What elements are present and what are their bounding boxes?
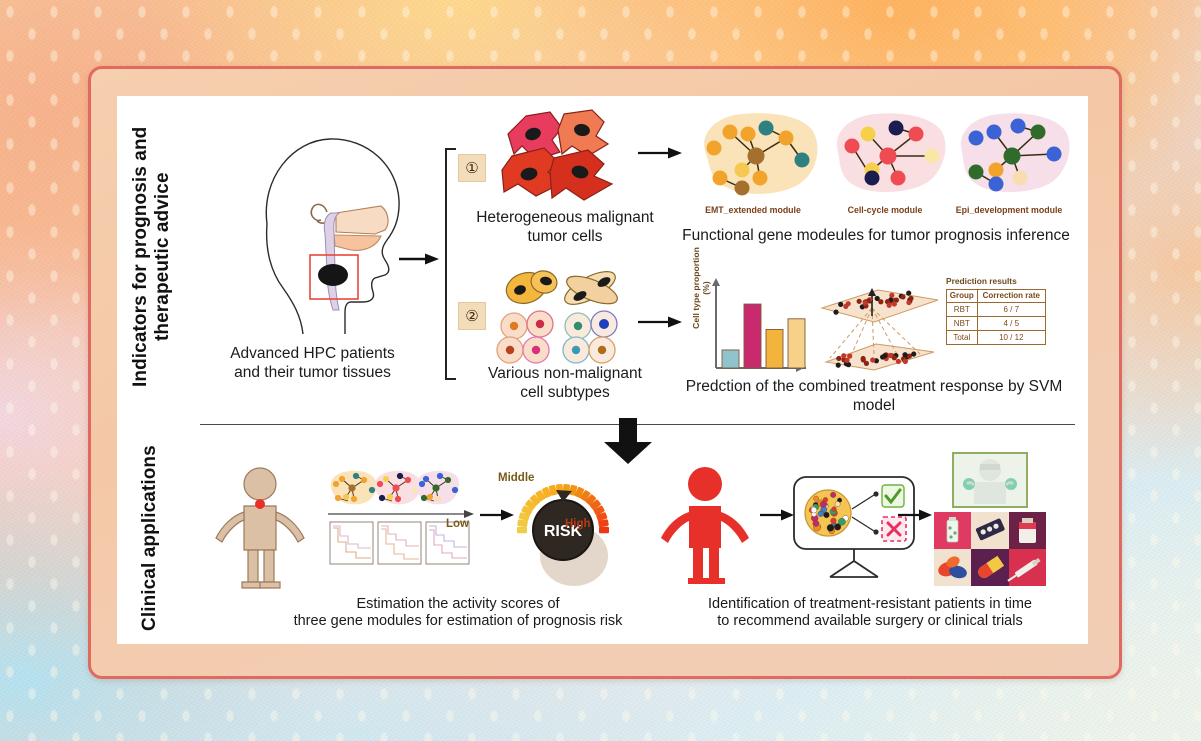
gene-modules-small-diagram [328, 470, 460, 506]
cell-dot [818, 511, 824, 517]
screening-monitor-diagram [790, 473, 920, 585]
svm-point [900, 294, 905, 299]
prediction-table-cell: Total [947, 331, 978, 345]
svm-point [887, 303, 892, 308]
svm-point [841, 353, 846, 358]
svm-point [906, 291, 911, 296]
cell-dot [838, 518, 845, 525]
svm-point [889, 293, 894, 298]
prediction-table-cell: NBT [947, 317, 978, 331]
branch1-caption: Heterogeneous malignant tumor cells [465, 209, 665, 246]
cell-dot [811, 507, 817, 513]
svm-point [844, 358, 849, 363]
prediction-table-cell: 10 / 12 [977, 331, 1045, 345]
arrow-to-modules-icon [638, 143, 684, 163]
prediction-table-cell: 6 / 7 [977, 303, 1045, 317]
bar-3 [766, 329, 783, 368]
prediction-table-title: Prediction results [946, 276, 1046, 286]
arrow-to-svm-icon [638, 312, 684, 332]
svm-point [888, 353, 893, 358]
svm-caption: Predction of the combined treatment resp… [668, 378, 1080, 415]
svm-point [857, 299, 862, 304]
svm-hyperplane-diagram [816, 278, 942, 374]
svm-point [908, 296, 913, 301]
nonmalignant-cell-subtypes-illustration [492, 268, 632, 368]
prediction-table-header: Group [947, 290, 978, 303]
table-row: Total10 / 12 [947, 331, 1046, 345]
cell-dot [827, 524, 834, 531]
svm-point [836, 363, 841, 368]
bar-2 [744, 304, 761, 368]
modules-caption: Functional gene modeules for tumor progn… [672, 227, 1080, 246]
bottom-left-caption: Estimation the activity scores of three … [278, 596, 638, 631]
gauge-tick [599, 527, 609, 534]
survival-curve-plots [328, 508, 476, 566]
risk-gauge-high-label: High [565, 518, 591, 530]
section-transition-arrow-icon [600, 418, 656, 466]
gauge-tick [517, 527, 527, 534]
cell-dot [813, 520, 819, 526]
branch2-caption: Various non-malignant cell subtypes [465, 365, 665, 402]
cell-dot [813, 496, 818, 501]
prediction-results-table: GroupCorrection rateRBT6 / 7NBT4 / 5Tota… [946, 289, 1046, 345]
risk-gauge-middle-label: Middle [498, 472, 534, 484]
surgeon-photo-icon [952, 452, 1028, 508]
medications-grid-icon [934, 512, 1046, 586]
module-label-emt: EMT_extended module [690, 205, 816, 216]
prediction-table-cell: RBT [947, 303, 978, 317]
svm-point [870, 357, 875, 362]
svm-point [833, 310, 838, 315]
bar-4 [788, 319, 805, 368]
section-label-prognosis: Indicators for prognosis and therapeutic… [130, 112, 176, 402]
svm-point [903, 359, 908, 364]
prediction-table-cell: 4 / 5 [977, 317, 1045, 331]
arrow-to-treatment-icon [898, 505, 934, 525]
branch-number-1: ① [458, 154, 486, 182]
risk-gauge-low-label: Low [446, 518, 469, 530]
branch-number-2: ② [458, 302, 486, 330]
patient-figure-beige-icon [208, 466, 313, 591]
svm-point [902, 352, 907, 357]
svm-point [911, 351, 916, 356]
module-label-cellcycle: Cell-cycle module [822, 205, 948, 216]
svm-point [838, 302, 843, 307]
cell-dot [832, 507, 837, 512]
cell-dot [835, 501, 840, 506]
gene-modules-diagram [690, 108, 1070, 204]
module-label-epi: Epi_development module [946, 205, 1072, 216]
prediction-results-table-wrap: Prediction results GroupCorrection rateR… [946, 276, 1046, 345]
arrow-head-to-branches-icon [399, 249, 441, 269]
svm-point [836, 356, 841, 361]
svm-point [896, 359, 901, 364]
graphical-abstract-figure: Indicators for prognosis and therapeutic… [0, 0, 1201, 741]
bar-1 [722, 350, 739, 368]
svm-point [864, 361, 869, 366]
svm-point [875, 296, 880, 301]
cell-dot [831, 518, 837, 524]
svm-point [892, 301, 897, 306]
svm-point [882, 353, 887, 358]
prediction-table-header: Correction rate [977, 290, 1045, 303]
cell-dot [824, 512, 830, 518]
table-row: RBT6 / 7 [947, 303, 1046, 317]
bottom-right-caption: Identification of treatment-resistant pa… [660, 596, 1080, 631]
svm-point [846, 301, 851, 306]
cell-dot [830, 492, 836, 498]
patient-caption: Advanced HPC patients and their tumor ti… [205, 345, 420, 382]
branch-bracket [442, 148, 458, 380]
table-row: NBT4 / 5 [947, 317, 1046, 331]
malignant-tumor-cells-illustration [492, 110, 637, 210]
bar-chart-y-axis-label: Cell type proportion (%) [691, 242, 711, 334]
head-anatomy-illustration [205, 120, 420, 350]
cell-dot [820, 501, 826, 507]
patient-figure-red-icon [655, 466, 755, 588]
section-label-clinical: Clinical applications [139, 440, 165, 636]
svm-point [863, 300, 868, 305]
svm-point [861, 356, 866, 361]
